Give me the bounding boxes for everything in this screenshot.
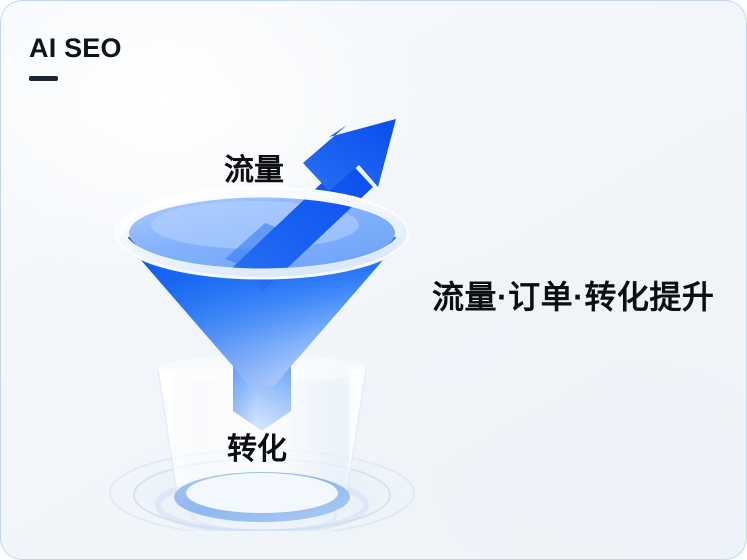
page-title: AI SEO	[29, 35, 122, 62]
title-block: AI SEO	[29, 35, 122, 81]
funnel-stage-label-conversion: 转化	[227, 435, 287, 465]
title-underline-rule	[29, 76, 58, 81]
tagline: 流量·订单·转化提升	[432, 277, 714, 317]
beaker-base	[174, 472, 350, 522]
funnel-stage-label-traffic: 流量	[224, 156, 284, 186]
poster-canvas: AI SEO 流量·订单·转化提升	[0, 0, 747, 560]
